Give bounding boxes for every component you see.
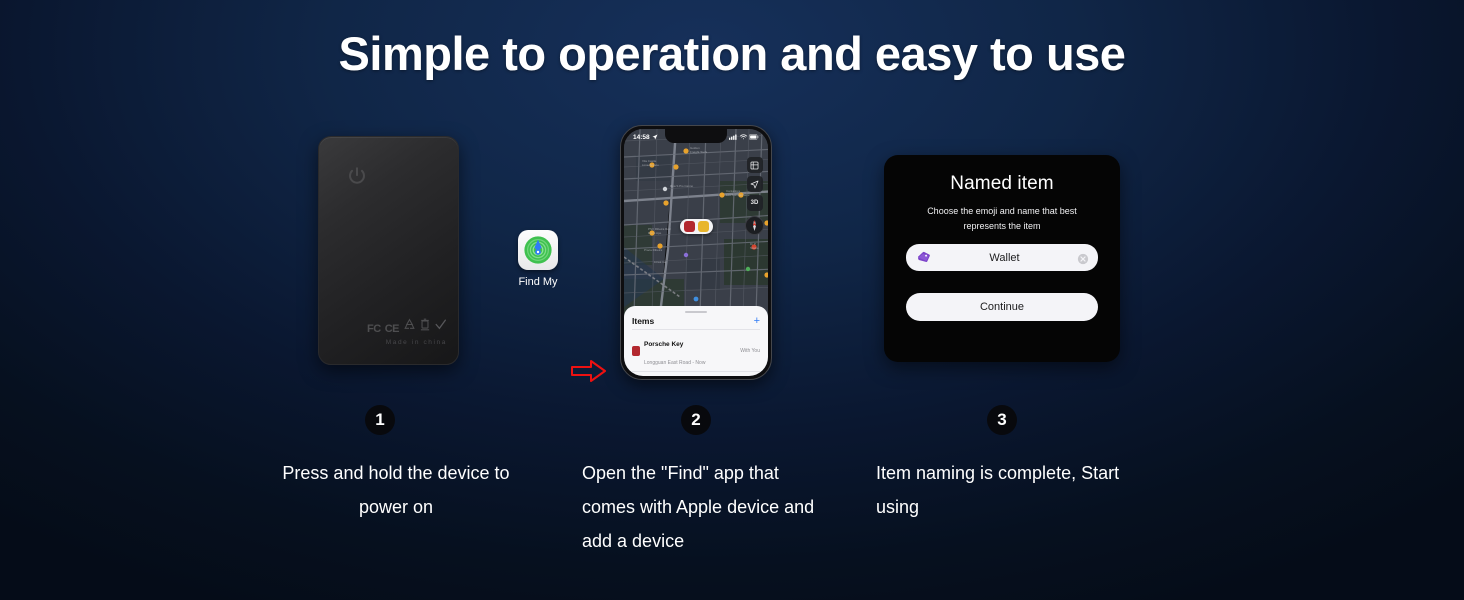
map-item-pins[interactable] [680, 219, 713, 234]
phone-power-button [771, 198, 772, 232]
item-status: With You [740, 348, 760, 354]
phone-volume-down-button [620, 206, 621, 232]
step-badge: 1 [365, 405, 395, 435]
dialog-title: Named item [906, 173, 1098, 195]
phone-mockup: 14:58 [620, 125, 772, 380]
cellular-signal-icon [729, 134, 737, 142]
red-arrow-right-icon [570, 358, 608, 389]
fc-mark: FC [367, 323, 381, 336]
step-1: 1 Press and hold the device to power on [276, 405, 516, 524]
wifi-icon [740, 134, 747, 142]
svg-text:Linea rse: Linea rse [654, 260, 667, 264]
continue-button[interactable]: Continue [906, 293, 1098, 321]
phone-volume-up-button [620, 181, 621, 197]
item-name-value[interactable]: Wallet [932, 252, 1077, 264]
step-badge: 2 [681, 405, 711, 435]
svg-text:Stadio: Stadio [750, 246, 759, 250]
step-caption: Item naming is complete, Start using [876, 456, 1126, 524]
item-name: Porsche Key [644, 341, 683, 348]
item-subtitle: Longguan East Road - Now [644, 360, 705, 366]
svg-text:Lima Branco: Lima Branco [642, 163, 659, 167]
items-sheet[interactable]: Items + Porsche Key Longguan East Road -… [624, 306, 768, 376]
phone-notch [665, 129, 727, 143]
svg-text:Praca Ribeira: Praca Ribeira [644, 248, 663, 252]
map-layers-button[interactable] [747, 157, 763, 173]
navigate-button[interactable] [747, 176, 763, 192]
illustration-stage: FC CE [0, 120, 1464, 390]
steps-section: 1 Press and hold the device to power on … [0, 405, 1464, 585]
named-item-dialog: Named item Choose the emoji and name tha… [884, 155, 1120, 362]
power-icon [346, 165, 368, 187]
clear-circle-icon[interactable] [1077, 252, 1089, 264]
step-2: 2 Open the "Find" app that comes with Ap… [582, 405, 822, 558]
step-3: 3 Item naming is complete, Start using [876, 405, 1126, 524]
map-pin-porsche-key[interactable] [684, 221, 695, 232]
step-caption: Press and hold the device to power on [276, 456, 516, 524]
step-badge: 3 [987, 405, 1017, 435]
check-icon [434, 318, 447, 336]
status-time: 14:58 [633, 134, 650, 141]
map-controls[interactable]: 3D N [745, 157, 764, 235]
device-card: FC CE [318, 136, 459, 365]
find-my-radar-icon[interactable] [518, 230, 558, 270]
svg-text:Freight Tools: Freight Tools [690, 150, 708, 154]
made-in-label: Made in china [319, 339, 447, 346]
battery-icon [749, 134, 759, 142]
list-item[interactable]: Wallet Longguan East Road - Now With You [632, 371, 760, 376]
list-item[interactable]: Porsche Key Longguan East Road - Now Wit… [632, 329, 760, 371]
find-my-label: Find My [516, 276, 560, 288]
find-my-app[interactable]: Find My [516, 230, 560, 288]
map-view[interactable]: Golden Freight Tools Vila Castle Lima Br… [624, 129, 768, 314]
weee-bin-icon [420, 318, 430, 336]
three-d-button[interactable]: 3D [747, 195, 763, 211]
phone-screen: 14:58 [624, 129, 768, 376]
recycle-icon [403, 318, 416, 336]
purple-label-tag-emoji[interactable] [915, 249, 932, 266]
items-title: Items [632, 316, 654, 326]
dialog-subtitle: Choose the emoji and name that best repr… [906, 204, 1098, 234]
page-title: Simple to operation and easy to use [0, 26, 1464, 81]
add-item-button[interactable]: + [754, 316, 760, 326]
map-pin-wallet[interactable] [698, 221, 709, 232]
location-arrow-icon [652, 134, 658, 142]
item-name-input[interactable]: Wallet [906, 244, 1098, 271]
ce-mark: CE [385, 323, 399, 336]
certification-marks: FC CE [319, 321, 447, 346]
step-caption: Open the "Find" app that comes with Appl… [582, 456, 822, 558]
svg-text:Rua S Pio Canno: Rua S Pio Canno [670, 184, 694, 188]
item-icon [632, 346, 640, 356]
sheet-grabber[interactable] [685, 311, 707, 313]
compass-control[interactable]: N [745, 216, 764, 235]
svg-text:Rio S Ape: Rio S Ape [648, 231, 662, 235]
